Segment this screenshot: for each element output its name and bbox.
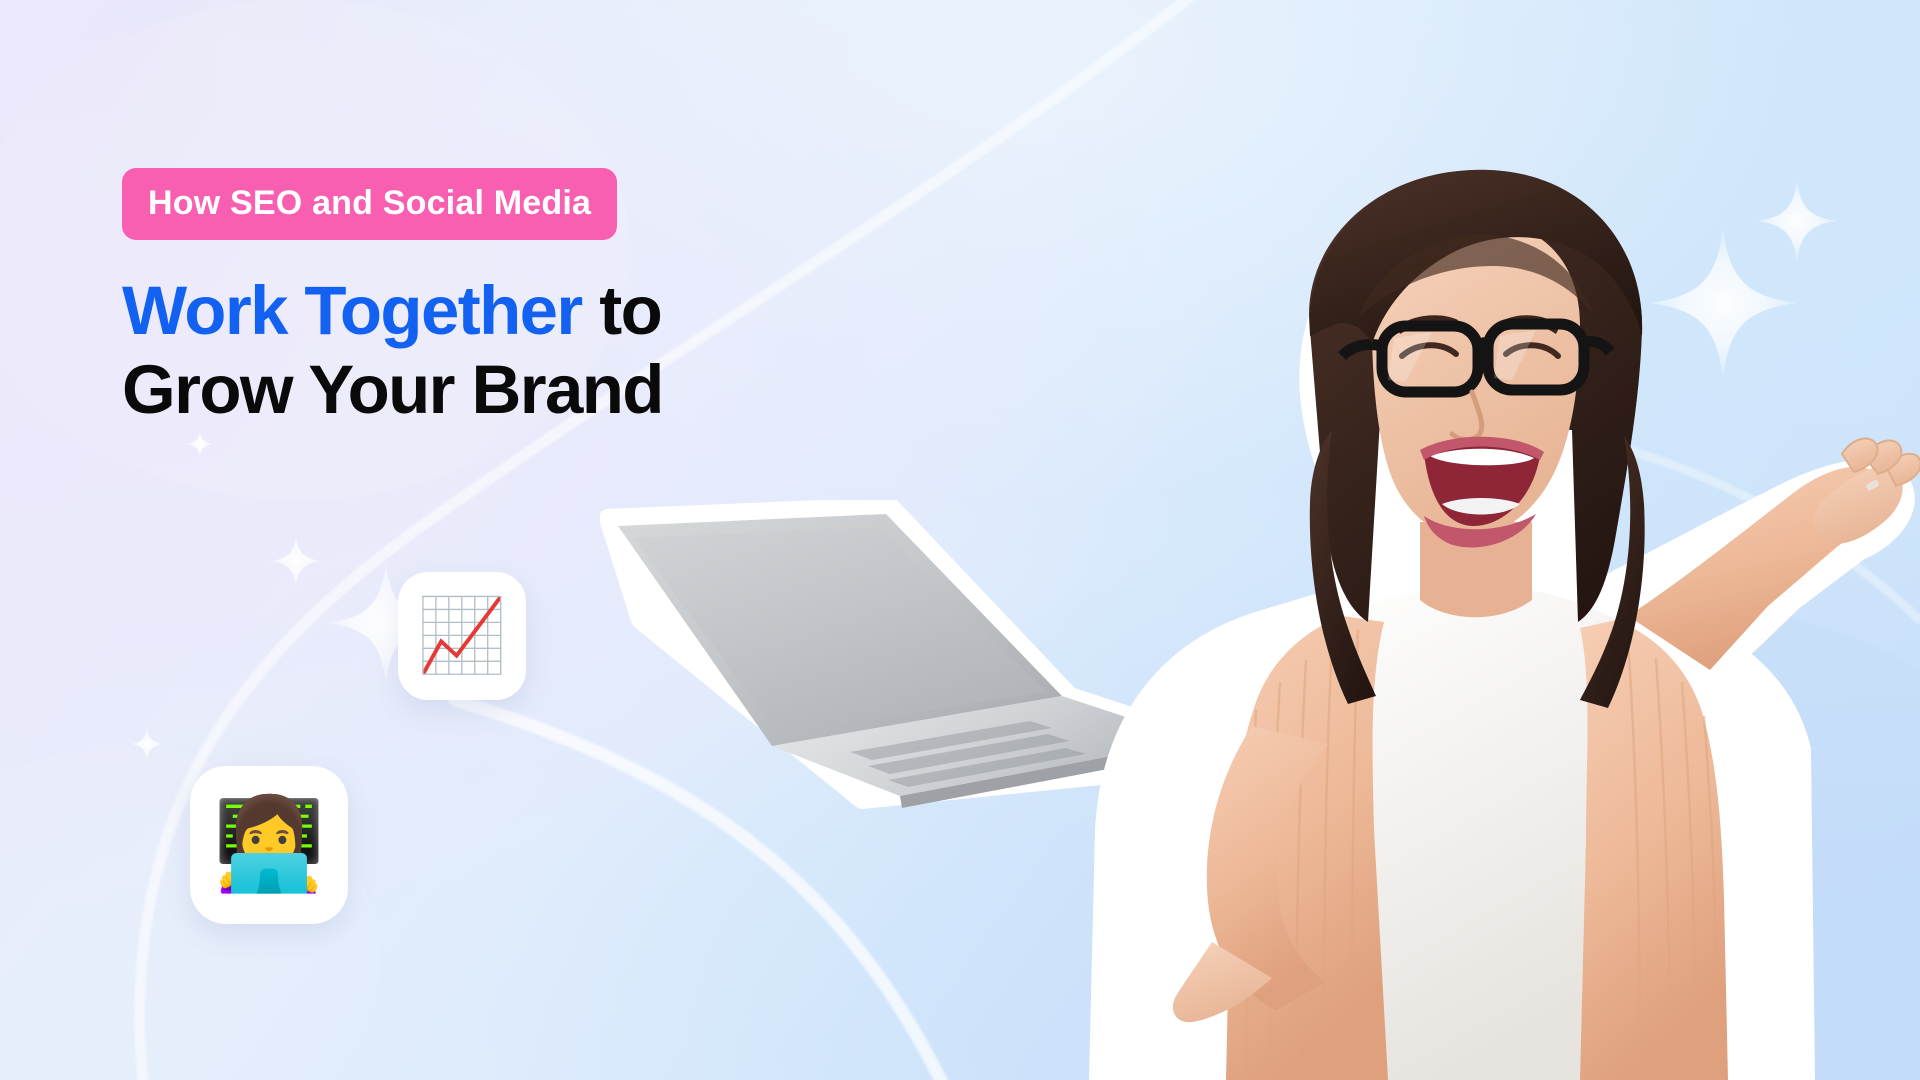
- headline-block: How SEO and Social Media Work Together t…: [122, 168, 882, 429]
- person-photo: [980, 130, 1920, 1080]
- headline-tail-text: to: [582, 272, 662, 349]
- chart-increasing-icon: 📈: [417, 600, 507, 672]
- woman-technologist-icon: 👩‍💻: [213, 800, 325, 890]
- sparkle-small-left: [270, 535, 322, 587]
- headline-line-1: Work Together to: [122, 272, 882, 351]
- woman-technologist-tile: 👩‍💻: [190, 766, 348, 924]
- page-title: Work Together to Grow Your Brand: [122, 272, 882, 429]
- headline-accent-text: Work Together: [122, 272, 582, 349]
- eyebrow-badge: How SEO and Social Media: [122, 168, 617, 240]
- banner-canvas: 📈 👩‍💻 How SEO and Social Media Work Toge…: [0, 0, 1920, 1080]
- headline-line-2: Grow Your Brand: [122, 351, 882, 430]
- chart-increasing-tile: 📈: [398, 572, 526, 700]
